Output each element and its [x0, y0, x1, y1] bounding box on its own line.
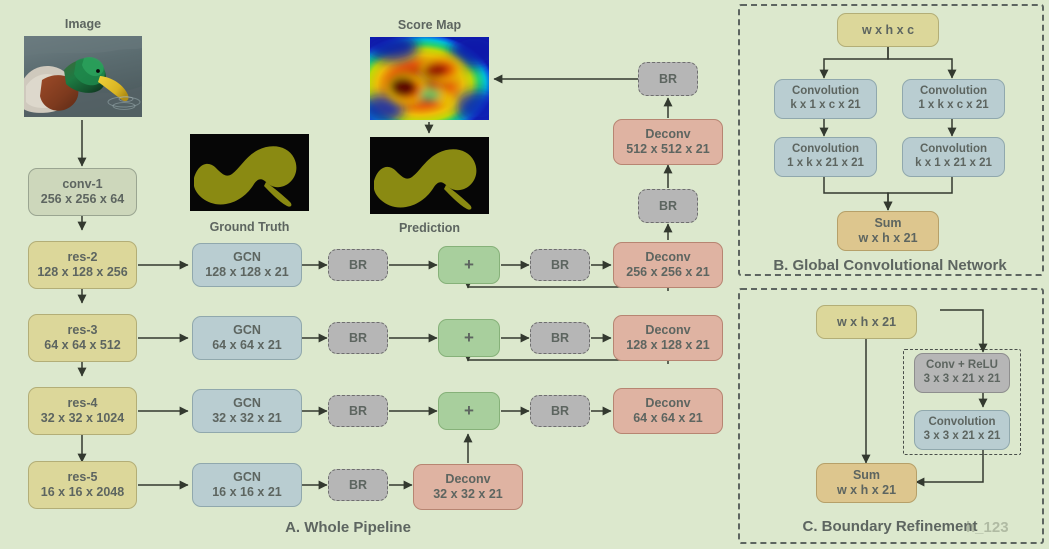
node-shape: 32 x 32 x 21	[212, 411, 282, 426]
node-title: Convolution	[920, 85, 987, 99]
node-shape: w x h x 21	[837, 483, 896, 498]
node-shape: 16 x 16 x 2048	[41, 485, 124, 500]
node-title: w x h x 21	[837, 315, 896, 330]
node-shape: 1 x k x c x 21	[918, 99, 988, 113]
node-br-sum-3[interactable]: BR	[530, 395, 590, 427]
node-title: Convolution	[792, 85, 859, 99]
node-title: res-4	[68, 396, 98, 411]
node-br-top[interactable]: BR	[638, 62, 698, 96]
node-title: BR	[551, 331, 569, 346]
node-title: GCN	[233, 323, 261, 338]
caption-panel-a: A. Whole Pipeline	[218, 519, 478, 536]
node-deconv-64[interactable]: Deconv 64 x 64 x 21	[613, 388, 723, 434]
node-title: res-2	[68, 250, 98, 265]
node-title: Convolution	[920, 143, 987, 157]
node-deconv-512[interactable]: Deconv 512 x 512 x 21	[613, 119, 723, 165]
node-title: Convolution	[928, 416, 995, 430]
node-conv-relu[interactable]: Conv + ReLU 3 x 3 x 21 x 21	[914, 353, 1010, 393]
node-title: BR	[349, 258, 367, 273]
node-gcn-conv-1kc21[interactable]: Convolution 1 x k x c x 21	[902, 79, 1005, 119]
node-sum-1[interactable]: +	[438, 246, 500, 284]
node-title: w x h x c	[862, 23, 914, 38]
node-br-convolution[interactable]: Convolution 3 x 3 x 21 x 21	[914, 410, 1010, 450]
node-title: GCN	[233, 250, 261, 265]
node-br-sum-2[interactable]: BR	[530, 322, 590, 354]
node-shape: 128 x 128 x 21	[626, 338, 709, 353]
node-shape: 256 x 256 x 64	[41, 192, 124, 207]
node-title: Deconv	[645, 250, 690, 265]
prediction-thumbnail	[370, 137, 489, 214]
node-shape: 64 x 64 x 21	[212, 338, 282, 353]
node-title: +	[464, 255, 474, 275]
node-title: GCN	[233, 396, 261, 411]
node-res-5[interactable]: res-5 16 x 16 x 2048	[28, 461, 137, 509]
node-title: BR	[349, 478, 367, 493]
node-title: Deconv	[445, 472, 490, 487]
score-map-thumbnail	[370, 37, 489, 120]
node-title: BR	[659, 72, 677, 87]
node-gcn-conv-1k2121[interactable]: Convolution 1 x k x 21 x 21	[774, 137, 877, 177]
input-image-thumbnail	[24, 36, 142, 117]
node-gcn-sum[interactable]: Sum w x h x 21	[837, 211, 939, 251]
node-shape: 16 x 16 x 21	[212, 485, 282, 500]
node-title: Convolution	[792, 143, 859, 157]
node-shape: 128 x 128 x 256	[37, 265, 127, 280]
caption-score-map: Score Map	[370, 18, 489, 32]
node-title: Sum	[874, 216, 901, 231]
node-conv-1[interactable]: conv-1 256 x 256 x 64	[28, 168, 137, 216]
node-shape: 256 x 256 x 21	[626, 265, 709, 280]
node-shape: 64 x 64 x 21	[633, 411, 703, 426]
node-br-mid[interactable]: BR	[638, 189, 698, 223]
node-gcn-32[interactable]: GCN 32 x 32 x 21	[192, 389, 302, 433]
node-res-4[interactable]: res-4 32 x 32 x 1024	[28, 387, 137, 435]
node-title: Deconv	[645, 323, 690, 338]
node-br-gcn-3[interactable]: BR	[328, 395, 388, 427]
node-br-input[interactable]: w x h x 21	[816, 305, 917, 339]
caption-prediction: Prediction	[370, 221, 489, 235]
node-shape: k x 1 x 21 x 21	[915, 157, 992, 171]
node-title: BR	[551, 258, 569, 273]
node-res-3[interactable]: res-3 64 x 64 x 512	[28, 314, 137, 362]
node-title: Conv + ReLU	[926, 359, 998, 373]
node-title: BR	[349, 331, 367, 346]
node-br-sum-1[interactable]: BR	[530, 249, 590, 281]
watermark: h_123	[966, 519, 1009, 536]
caption-panel-b: B. Global Convolutional Network	[744, 257, 1036, 274]
node-br-gcn-1[interactable]: BR	[328, 249, 388, 281]
node-shape: 128 x 128 x 21	[205, 265, 288, 280]
node-sum-3[interactable]: +	[438, 392, 500, 430]
node-gcn-conv-k12121[interactable]: Convolution k x 1 x 21 x 21	[902, 137, 1005, 177]
node-gcn-conv-k1c21[interactable]: Convolution k x 1 x c x 21	[774, 79, 877, 119]
node-gcn-input[interactable]: w x h x c	[837, 13, 939, 47]
node-shape: 32 x 32 x 21	[433, 487, 503, 502]
node-shape: 32 x 32 x 1024	[41, 411, 124, 426]
node-sum-2[interactable]: +	[438, 319, 500, 357]
node-title: GCN	[233, 470, 261, 485]
node-gcn-16[interactable]: GCN 16 x 16 x 21	[192, 463, 302, 507]
caption-ground-truth: Ground Truth	[190, 220, 309, 234]
node-title: BR	[551, 404, 569, 419]
node-br-sum[interactable]: Sum w x h x 21	[816, 463, 917, 503]
node-title: Deconv	[645, 396, 690, 411]
node-title: +	[464, 401, 474, 421]
node-title: BR	[349, 404, 367, 419]
node-title: conv-1	[62, 177, 102, 192]
node-shape: 3 x 3 x 21 x 21	[924, 430, 1001, 444]
node-shape: 512 x 512 x 21	[626, 142, 709, 157]
node-shape: 3 x 3 x 21 x 21	[924, 373, 1001, 387]
node-shape: w x h x 21	[858, 231, 917, 246]
node-title: res-5	[68, 470, 98, 485]
node-res-2[interactable]: res-2 128 x 128 x 256	[28, 241, 137, 289]
node-shape: 64 x 64 x 512	[44, 338, 120, 353]
node-gcn-128[interactable]: GCN 128 x 128 x 21	[192, 243, 302, 287]
node-title: Deconv	[645, 127, 690, 142]
node-deconv-32[interactable]: Deconv 32 x 32 x 21	[413, 464, 523, 510]
node-title: res-3	[68, 323, 98, 338]
node-title: +	[464, 328, 474, 348]
caption-image: Image	[24, 17, 142, 31]
node-deconv-128[interactable]: Deconv 128 x 128 x 21	[613, 315, 723, 361]
diagram-canvas: Image Ground Truth Score Map Prediction …	[0, 0, 1049, 549]
node-br-gcn-4[interactable]: BR	[328, 469, 388, 501]
ground-truth-thumbnail	[190, 134, 309, 211]
node-title: BR	[659, 199, 677, 214]
node-shape: k x 1 x c x 21	[790, 99, 860, 113]
node-shape: 1 x k x 21 x 21	[787, 157, 864, 171]
node-title: Sum	[853, 468, 880, 483]
node-gcn-64[interactable]: GCN 64 x 64 x 21	[192, 316, 302, 360]
node-br-gcn-2[interactable]: BR	[328, 322, 388, 354]
node-deconv-256[interactable]: Deconv 256 x 256 x 21	[613, 242, 723, 288]
